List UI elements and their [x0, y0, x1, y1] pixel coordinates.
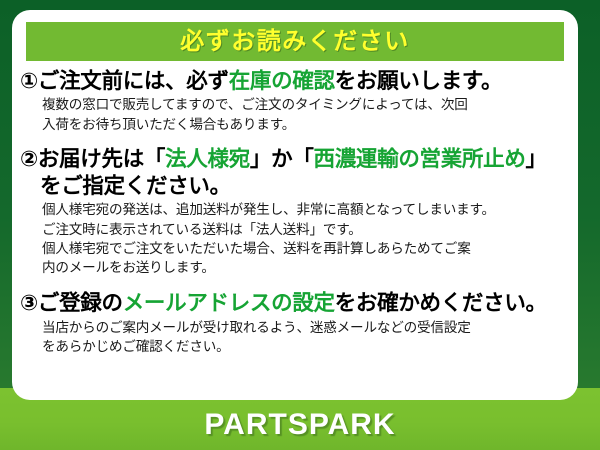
- notice-item-3-heading: ③ご登録のメールアドレスの設定をお確かめください。: [20, 290, 568, 316]
- notice-item-1-heading: ①ご注文前には、必ず在庫の確認をお願いします。: [20, 68, 568, 94]
- notice-item-2-head-pre: お届け先は「: [38, 147, 165, 171]
- notice-item-2-heading: ②お届け先は「法人様宛」か「西濃運輸の営業所止め」: [20, 146, 568, 172]
- notice-item-2: ②お届け先は「法人様宛」か「西濃運輸の営業所止め」 をご指定ください。 個人様宅…: [20, 146, 568, 278]
- notice-item-2-sub-line-4: 内のメールをお送りします。: [42, 258, 568, 277]
- notice-item-1-highlight: 在庫の確認: [229, 69, 335, 93]
- notice-card: 必ずお読みください ①ご注文前には、必ず在庫の確認をお願いします。 複数の窓口で…: [12, 10, 578, 400]
- page-title: 必ずお読みください: [180, 30, 410, 54]
- notice-item-3-sub-line-1: 当店からのご案内メールが受け取れるよう、迷惑メールなどの受信設定: [42, 318, 568, 337]
- notice-item-3-head-post: をお確かめください。: [335, 291, 547, 315]
- notice-item-2-highlight-2: 西濃運輸の営業所止め: [314, 147, 526, 171]
- notice-item-2-sub-line-3: 個人様宅宛でご注文をいただいた場合、送料を再計算しあらためてご案: [42, 239, 568, 258]
- notice-item-2-head-mid: 」か「: [250, 147, 314, 171]
- notice-frame: 必ずお読みください ①ご注文前には、必ず在庫の確認をお願いします。 複数の窓口で…: [0, 0, 600, 450]
- notice-item-3-head-pre: ご登録の: [38, 291, 123, 315]
- notice-item-3: ③ご登録のメールアドレスの設定をお確かめください。 当店からのご案内メールが受け…: [20, 290, 568, 356]
- notice-item-1-sub-line-1: 複数の窓口で販売してますので、ご注文のタイミングによっては、次回: [42, 95, 568, 114]
- brand-logo: PARTSPARK: [204, 410, 395, 440]
- notice-item-2-sub-line-2: ご注文時に表示されている送料は「法人送料」です。: [42, 220, 568, 239]
- notice-body: ①ご注文前には、必ず在庫の確認をお願いします。 複数の窓口で販売してますので、ご…: [12, 66, 578, 396]
- notice-item-1-marker: ①: [20, 69, 38, 93]
- title-banner: 必ずお読みください: [26, 22, 564, 61]
- notice-item-2-heading-line-2: をご指定ください。: [40, 173, 568, 199]
- notice-item-1-head-post: をお願いします。: [335, 69, 502, 93]
- notice-item-3-highlight: メールアドレスの設定: [123, 291, 335, 315]
- notice-item-1-sub-line-2: 入荷をお待ち頂いただく場合もあります。: [42, 115, 568, 134]
- notice-item-2-head-post: 」: [526, 147, 547, 171]
- notice-item-2-highlight-1: 法人様宛: [165, 147, 250, 171]
- notice-item-3-sub-line-2: をあらかじめご確認ください。: [42, 337, 568, 356]
- notice-item-2-sub-line-1: 個人様宅宛の発送は、追加送料が発生し、非常に高額となってしまいます。: [42, 200, 568, 219]
- notice-item-1-head-pre: ご注文前には、必ず: [38, 69, 229, 93]
- notice-item-2-marker: ②: [20, 147, 38, 171]
- notice-item-1: ①ご注文前には、必ず在庫の確認をお願いします。 複数の窓口で販売してますので、ご…: [20, 68, 568, 134]
- footer-logo-area: PARTSPARK: [0, 400, 600, 450]
- notice-item-3-marker: ③: [20, 291, 38, 315]
